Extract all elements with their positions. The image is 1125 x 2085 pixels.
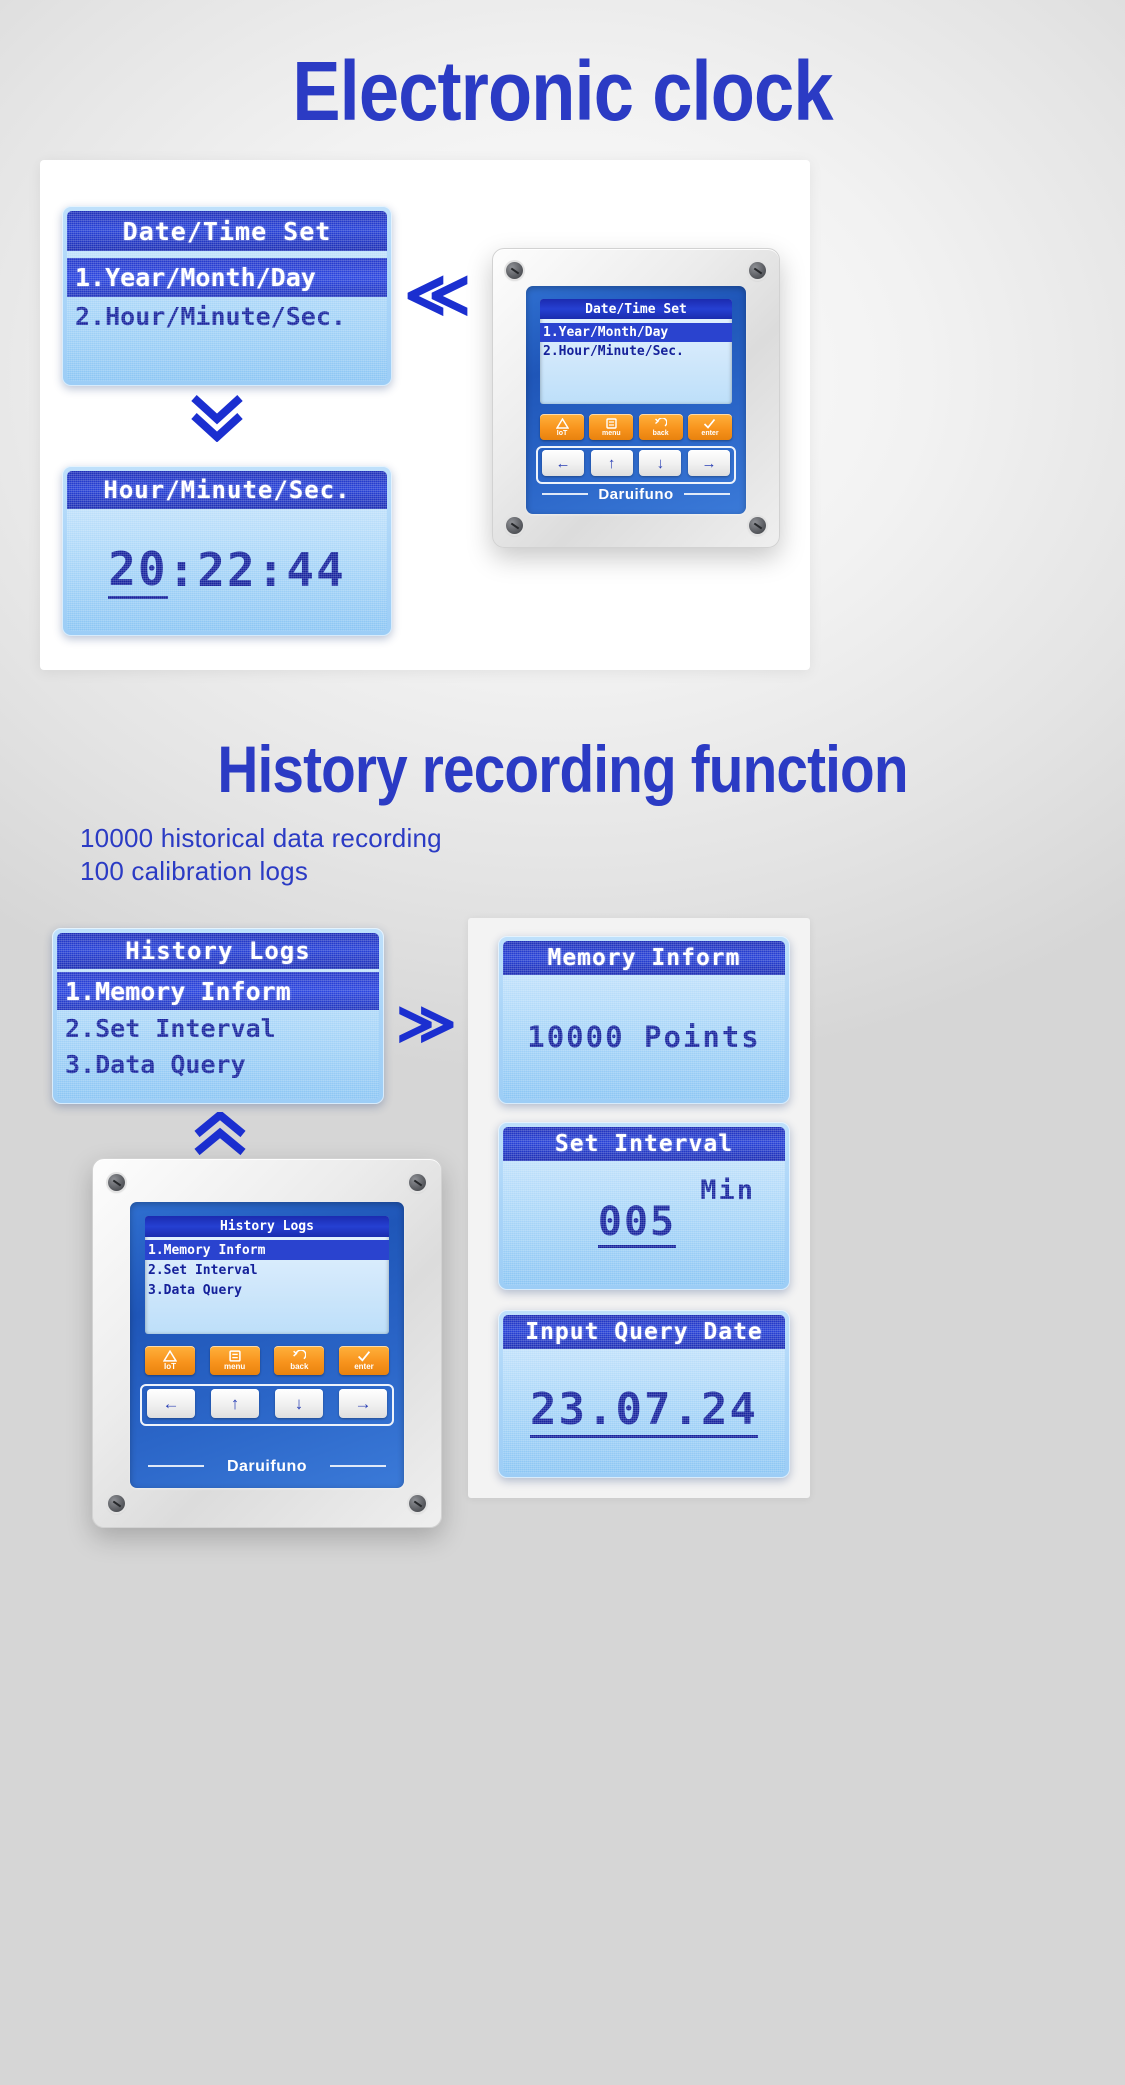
enter-icon	[357, 1350, 371, 1362]
lcd-value-set-interval[interactable]: 005 Min	[503, 1161, 785, 1285]
clock-second-field[interactable]: 44	[286, 543, 345, 597]
lcd-history-logs: History Logs 1.Memory Inform 2.Set Inter…	[52, 928, 384, 1104]
lcd-title-date-time-set: Date/Time Set	[67, 211, 387, 251]
device-screen-item-2: 2.Hour/Minute/Sec.	[540, 342, 732, 361]
device-arrow-keypad: ← ↑ ↓ →	[542, 450, 730, 476]
arrow-down-icon	[188, 392, 246, 449]
function-key-menu-2[interactable]: menu	[210, 1346, 260, 1375]
lcd-menu-item-hour-minute-sec[interactable]: 2.Hour/Minute/Sec.	[67, 297, 387, 336]
page-title-electronic-clock: Electronic clock	[79, 45, 1047, 137]
arrow-right-key[interactable]: →	[688, 450, 730, 476]
arrow-up-key[interactable]: ↑	[591, 450, 633, 476]
device-front-panel-2: History Logs 1.Memory Inform 2.Set Inter…	[130, 1202, 404, 1488]
chevron-double-down-svg	[188, 392, 246, 442]
device-screen-item-set-interval: 2.Set Interval	[145, 1260, 389, 1280]
arrow-right-key-2[interactable]: →	[339, 1389, 387, 1418]
device-brand-label: Daruifuno	[526, 486, 746, 503]
device-screen-title: Date/Time Set	[540, 299, 732, 319]
lcd-memory-inform: Memory Inform 10000 Points	[498, 936, 790, 1104]
set-interval-value[interactable]: 005	[598, 1199, 676, 1248]
clock-separator-1: :	[168, 543, 198, 597]
screw-top-right-2	[409, 1174, 426, 1191]
device-screen-item-1: 1.Year/Month/Day	[540, 323, 732, 342]
device-screen-history-logs: History Logs 1.Memory Inform 2.Set Inter…	[145, 1216, 389, 1334]
lcd-title-input-query-date: Input Query Date	[503, 1315, 785, 1349]
set-interval-unit: Min	[700, 1175, 755, 1206]
device-screen-item-memory-inform: 1.Memory Inform	[145, 1240, 389, 1260]
page-root: Electronic clock Date/Time Set 1.Year/Mo…	[0, 0, 1125, 2085]
arrow-left-key-2[interactable]: ←	[147, 1389, 195, 1418]
device-screen-item-data-query: 3.Data Query	[145, 1280, 389, 1300]
arrow-down-key[interactable]: ↓	[639, 450, 681, 476]
clock-minute-field[interactable]: 22	[197, 543, 256, 597]
lcd-menu-item-year-month-day[interactable]: 1.Year/Month/Day	[67, 258, 387, 297]
device-screen-title-2: History Logs	[145, 1216, 389, 1237]
arrow-up-key-2[interactable]: ↑	[211, 1389, 259, 1418]
query-date-value[interactable]: 23.07.24	[530, 1384, 758, 1438]
lcd-set-interval: Set Interval 005 Min	[498, 1122, 790, 1290]
device-arrow-keypad-2: ← ↑ ↓ →	[147, 1389, 387, 1418]
device-screen-date-time: Date/Time Set 1.Year/Month/Day 2.Hour/Mi…	[540, 299, 732, 404]
page-title-history-recording: History recording function	[79, 730, 1047, 808]
function-key-menu[interactable]: menu	[589, 414, 633, 440]
enter-icon	[703, 418, 716, 429]
arrow-left-icon: ≪	[404, 262, 471, 326]
screw-bottom-right	[749, 517, 766, 534]
lcd-menu-item-data-query[interactable]: 3.Data Query	[57, 1046, 379, 1082]
function-key-enter-2[interactable]: enter	[339, 1346, 389, 1375]
lcd-title-history-logs: History Logs	[57, 933, 379, 969]
lcd-hour-minute-sec: Hour/Minute/Sec. 20:22:44	[62, 466, 392, 636]
screw-bottom-left	[506, 517, 523, 534]
function-key-back-2[interactable]: back	[274, 1346, 324, 1375]
menu-icon	[606, 418, 617, 429]
function-key-iot-2[interactable]: IoT	[145, 1346, 195, 1375]
lcd-value-query-date[interactable]: 23.07.24	[503, 1349, 785, 1473]
history-subtitle-line-2: 100 calibration logs	[80, 855, 308, 887]
clock-hour-field[interactable]: 20	[108, 542, 167, 599]
screw-top-left	[506, 262, 523, 279]
lcd-date-time-set: Date/Time Set 1.Year/Month/Day 2.Hour/Mi…	[62, 206, 392, 386]
arrow-down-key-2[interactable]: ↓	[275, 1389, 323, 1418]
device-brand-label-2: Daruifuno	[130, 1458, 404, 1476]
back-icon	[654, 418, 667, 429]
function-key-back[interactable]: back	[639, 414, 683, 440]
device-front-panel: Date/Time Set 1.Year/Month/Day 2.Hour/Mi…	[526, 286, 746, 514]
history-subtitle-line-1: 10000 historical data recording	[80, 822, 442, 854]
screw-bottom-left-2	[108, 1495, 125, 1512]
iot-icon	[556, 418, 569, 429]
arrow-left-key[interactable]: ←	[542, 450, 584, 476]
lcd-title-hour-minute-sec: Hour/Minute/Sec.	[67, 471, 387, 509]
function-key-enter[interactable]: enter	[688, 414, 732, 440]
arrow-up-icon	[192, 1112, 248, 1162]
lcd-menu-item-set-interval[interactable]: 2.Set Interval	[57, 1010, 379, 1046]
device-photo-clock: Date/Time Set 1.Year/Month/Day 2.Hour/Mi…	[492, 248, 780, 548]
clock-separator-2: :	[257, 543, 287, 597]
screw-bottom-right-2	[409, 1495, 426, 1512]
lcd-value-memory-points: 10000 Points	[503, 975, 785, 1099]
lcd-clock-value[interactable]: 20:22:44	[67, 509, 387, 631]
arrow-right-icon: ≫	[396, 995, 457, 1053]
menu-icon	[229, 1350, 241, 1362]
chevron-double-up-svg	[192, 1112, 248, 1158]
back-icon	[292, 1350, 306, 1362]
screw-top-left-2	[108, 1174, 125, 1191]
screw-top-right	[749, 262, 766, 279]
device-function-keypad-2: IoT menu back enter	[145, 1346, 389, 1375]
lcd-title-set-interval: Set Interval	[503, 1127, 785, 1161]
lcd-input-query-date: Input Query Date 23.07.24	[498, 1310, 790, 1478]
lcd-menu-item-memory-inform[interactable]: 1.Memory Inform	[57, 972, 379, 1010]
device-photo-history: History Logs 1.Memory Inform 2.Set Inter…	[92, 1158, 442, 1528]
lcd-title-memory-inform: Memory Inform	[503, 941, 785, 975]
iot-icon	[163, 1350, 177, 1362]
function-key-iot[interactable]: IoT	[540, 414, 584, 440]
device-function-keypad: IoT menu back enter	[540, 414, 732, 440]
